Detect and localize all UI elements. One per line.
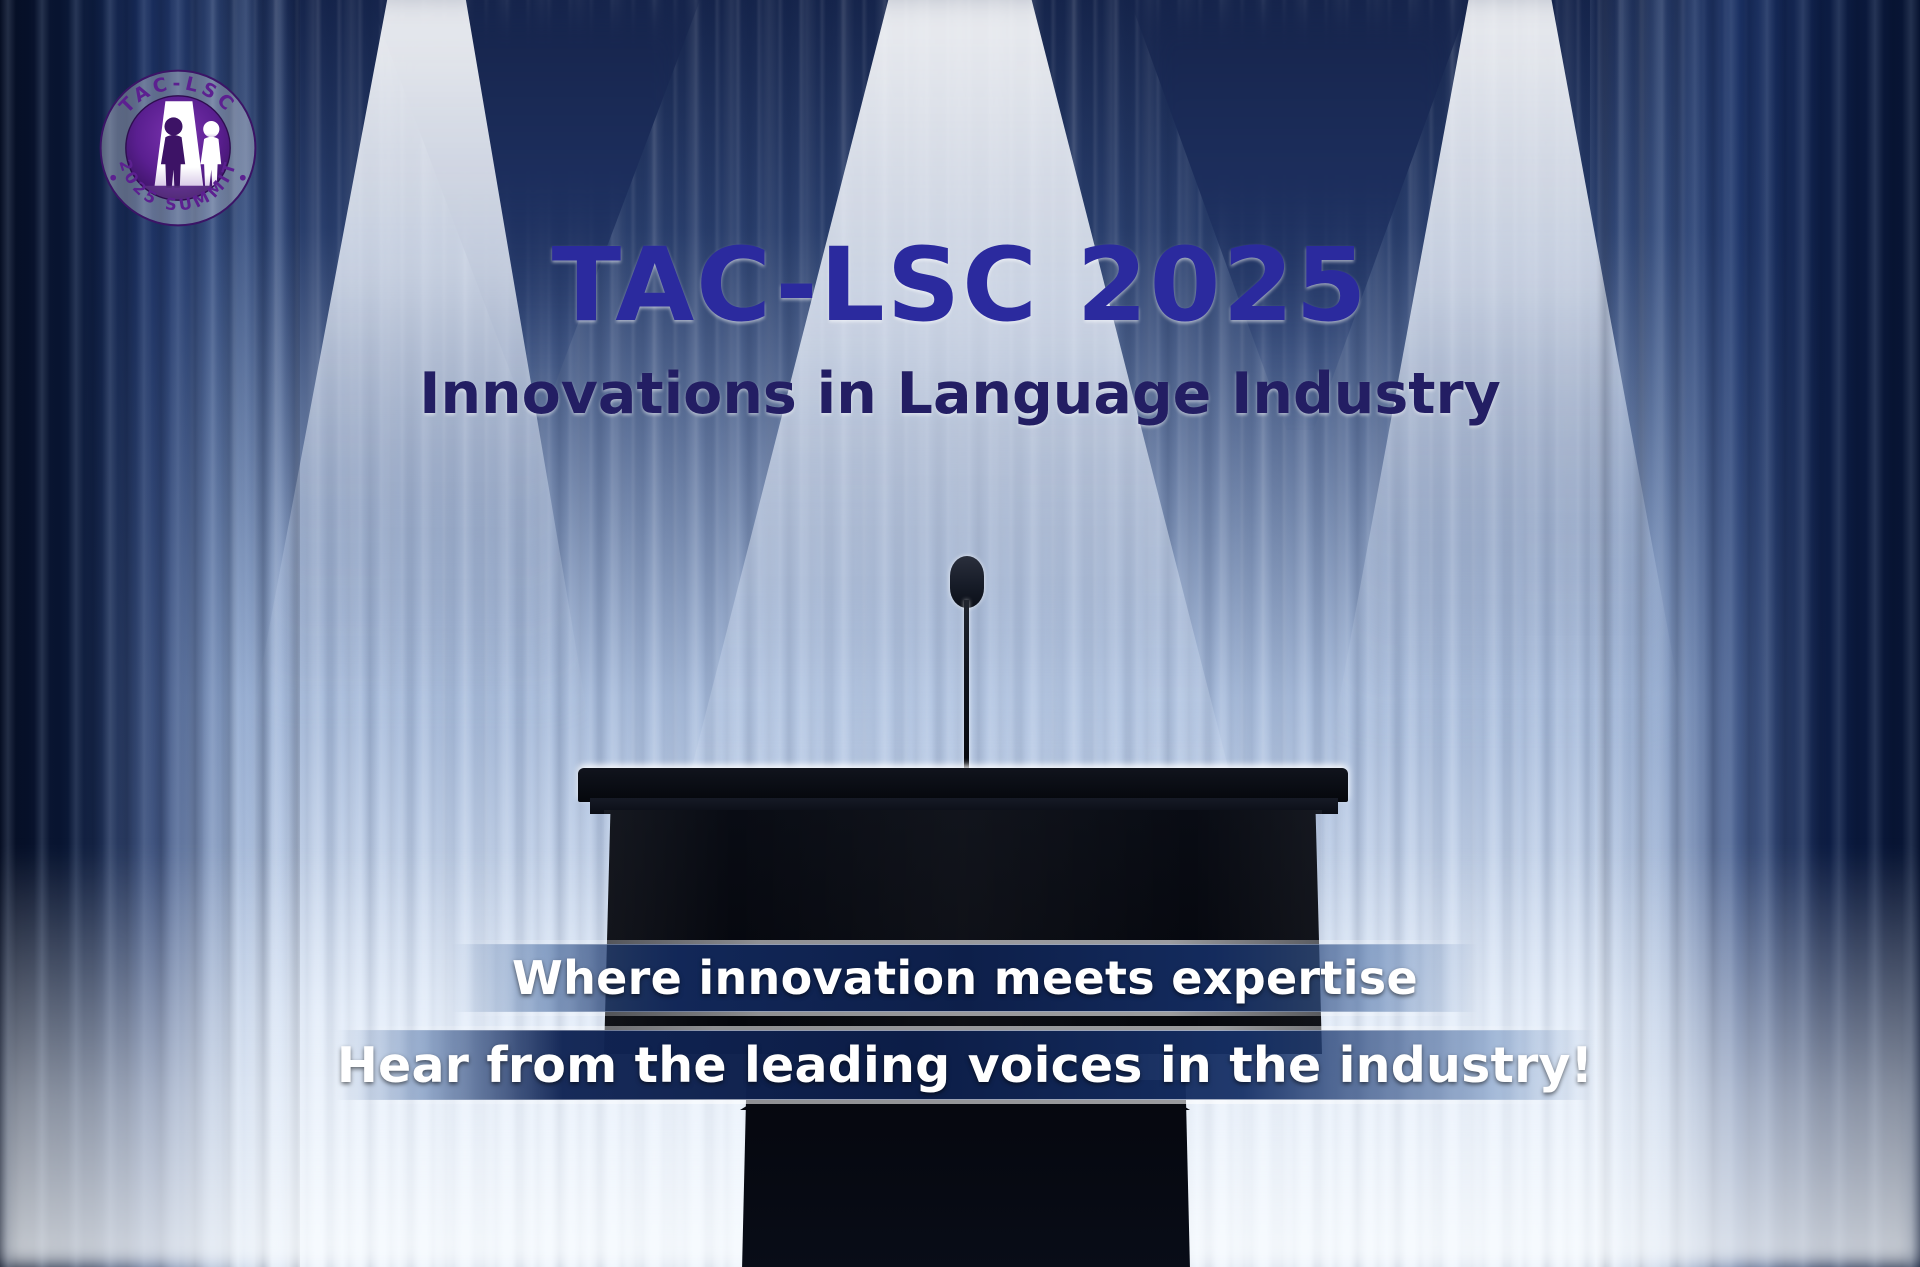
page-subtitle: Innovations in Language Industry xyxy=(0,361,1920,427)
tagline-banner-secondary-text: Hear from the leading voices in the indu… xyxy=(337,1037,1593,1094)
podium-top-slab xyxy=(578,768,1348,802)
conference-poster: TAC-LSC 2025 SUMMIT TAC-LSC 2025 Innovat… xyxy=(0,0,1920,1267)
microphone-icon xyxy=(945,556,993,781)
summit-logo[interactable]: TAC-LSC 2025 SUMMIT xyxy=(88,58,268,238)
podium-body xyxy=(604,810,1322,1054)
logo-dot-left xyxy=(110,175,116,181)
poster-heading-block: TAC-LSC 2025 Innovations in Language Ind… xyxy=(0,232,1920,427)
tagline-banner-primary: Where innovation meets expertise xyxy=(452,944,1478,1012)
microphone-stem xyxy=(964,600,969,782)
summit-logo-icon: TAC-LSC 2025 SUMMIT xyxy=(88,58,268,238)
logo-dot-right xyxy=(240,175,246,181)
tagline-banner-primary-text: Where innovation meets expertise xyxy=(512,951,1418,1005)
podium-base xyxy=(742,1080,1190,1267)
page-title: TAC-LSC 2025 xyxy=(0,232,1920,339)
podium xyxy=(0,760,1920,1267)
tagline-banner-secondary: Hear from the leading voices in the indu… xyxy=(336,1030,1594,1100)
